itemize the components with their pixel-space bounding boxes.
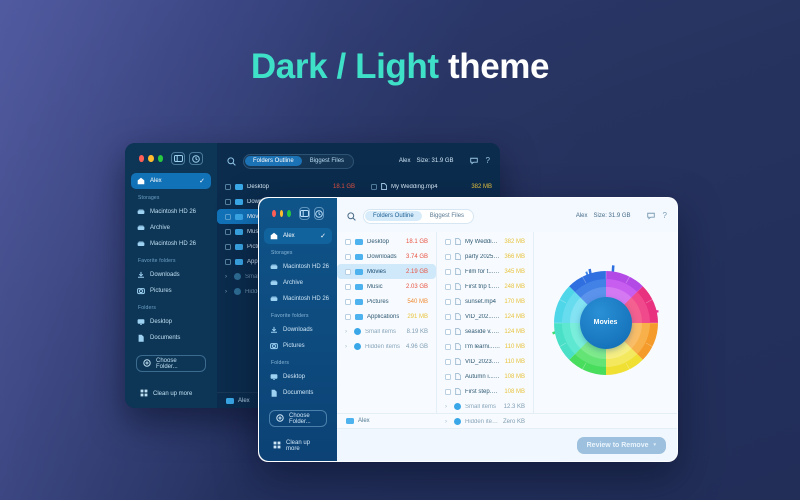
row-checkbox[interactable]: [345, 269, 351, 275]
sidebar-item-label: Archive: [150, 225, 170, 231]
row-name: Small items: [465, 404, 496, 410]
header-size: Size: 31.9 GB: [417, 158, 454, 164]
drive-icon: [137, 208, 145, 216]
sidebar-item-archive[interactable]: Archive: [264, 275, 332, 291]
folder-icon: [355, 314, 363, 320]
row-name: seaside v...023.mp4: [465, 329, 500, 335]
sidebar-item-account[interactable]: Alex ✓: [131, 173, 211, 189]
dark-toolbar-icons: ?: [470, 152, 490, 170]
table-row[interactable]: I'm learni...oard.mp4110 MB: [437, 339, 533, 354]
row-checkbox[interactable]: [445, 269, 451, 275]
file-icon: [455, 313, 461, 320]
file-icon: [455, 298, 461, 305]
light-files-column: My Wedding.mp4382 MB party 2025.mp4366 M…: [437, 232, 534, 413]
sidebar-item-label: Macintosh HD 26: [150, 209, 196, 215]
folder-icon: [355, 269, 363, 275]
row-checkbox[interactable]: [345, 239, 351, 245]
sidebar-item-label: Macintosh HD 26: [283, 264, 329, 270]
row-size: 18.1 GB: [333, 184, 355, 190]
table-row[interactable]: First step.mp4108 MB: [437, 384, 533, 399]
row-name: Music: [367, 284, 383, 290]
file-icon: [455, 373, 461, 380]
row-name: I'm learni...oard.mp4: [465, 344, 501, 350]
tab-folders-outline[interactable]: Folders Outline: [245, 156, 302, 166]
zoom-button[interactable]: [287, 210, 291, 217]
choose-folder-button[interactable]: Choose Folder...: [269, 410, 327, 427]
group-dot-icon: [234, 273, 241, 280]
row-checkbox[interactable]: [445, 329, 451, 335]
row-name: First step.mp4: [465, 389, 500, 395]
group-dot-icon: [354, 343, 361, 350]
row-checkbox[interactable]: [225, 244, 231, 250]
table-row[interactable]: VID_202...0958.mp4124 MB: [437, 309, 533, 324]
row-checkbox[interactable]: [225, 184, 231, 190]
row-name: Downloads: [367, 254, 397, 260]
row-size: 291 MB: [407, 314, 428, 320]
review-to-remove-button[interactable]: Review to Remove ▾: [577, 437, 666, 454]
chat-icon[interactable]: [470, 152, 478, 170]
sidebar-item-macintosh-hd-2[interactable]: Macintosh HD 26: [264, 291, 332, 307]
file-icon: [455, 283, 461, 290]
row-size: 124 MB: [504, 314, 525, 320]
row-checkbox[interactable]: [345, 254, 351, 260]
row-size: 382 MB: [504, 239, 525, 245]
sidebar-item-label: Desktop: [283, 374, 305, 380]
folder-icon: [235, 214, 243, 220]
file-icon: [381, 183, 387, 190]
sidebar-item-label: Macintosh HD 26: [150, 241, 196, 247]
question-icon[interactable]: ?: [486, 157, 490, 165]
desktop-icon: [270, 373, 278, 381]
document-icon: [137, 334, 145, 342]
choose-folder-button[interactable]: Choose Folder...: [136, 355, 206, 372]
sidebar-item-label: Documents: [150, 335, 180, 341]
sidebar-item-pictures[interactable]: Pictures: [131, 283, 211, 299]
sidebar-item-account[interactable]: Alex ✓: [264, 228, 332, 244]
sidebar-item-macintosh-hd-1[interactable]: Macintosh HD 26: [264, 259, 332, 275]
row-size: 3.74 GB: [406, 254, 428, 260]
clean-up-more-label: Clean up more: [153, 391, 192, 397]
table-row[interactable]: My Wedding.mp4382 MB: [363, 179, 500, 194]
table-row[interactable]: Downloads3.74 GB: [337, 249, 436, 264]
grid-icon: [273, 441, 281, 451]
table-row[interactable]: Film for t...flight.mp4345 MB: [437, 264, 533, 279]
file-icon: [455, 328, 461, 335]
sidebar-item-macintosh-hd-1[interactable]: Macintosh HD 26: [131, 204, 211, 220]
chevron-right-icon[interactable]: ›: [445, 404, 450, 410]
table-row[interactable]: seaside v...023.mp4124 MB: [437, 324, 533, 339]
question-icon[interactable]: ?: [663, 212, 667, 220]
light-sidebar: Alex ✓ Storages Macintosh HD 26 Archive …: [259, 198, 337, 461]
folder-icon: [355, 239, 363, 245]
sidebar-item-label: Pictures: [150, 288, 172, 294]
minimize-button[interactable]: [148, 155, 153, 162]
download-icon: [270, 326, 278, 334]
group-dot-icon: [234, 288, 241, 295]
chevron-down-icon: ▾: [653, 442, 656, 448]
sidebar-item-desktop[interactable]: Desktop: [264, 369, 332, 385]
drive-icon: [270, 263, 278, 271]
sidebar-item-label: Downloads: [150, 272, 180, 278]
plus-circle-icon: [276, 414, 284, 424]
row-name: VID_202...0958.mp4: [465, 314, 500, 320]
light-toolbar-icons: ?: [647, 207, 667, 225]
folder-icon: [346, 418, 354, 424]
row-size: 18.1 GB: [406, 239, 428, 245]
file-icon: [455, 358, 461, 365]
drive-icon: [137, 224, 145, 232]
row-size: 2.03 GB: [406, 284, 428, 290]
drive-icon: [137, 240, 145, 248]
table-row[interactable]: party 2025.mp4366 MB: [437, 249, 533, 264]
sidebar-item-label: Downloads: [283, 327, 313, 333]
plus-circle-icon: [143, 359, 151, 369]
row-checkbox[interactable]: [345, 314, 351, 320]
row-size: 345 MB: [504, 269, 525, 275]
page-title-plain: theme: [439, 47, 549, 86]
light-toolbar: Folders Outline Biggest Files Alex Size:…: [337, 198, 677, 232]
clean-up-more-button[interactable]: Clean up more: [269, 440, 327, 452]
light-view-tabs[interactable]: Folders Outline Biggest Files: [363, 209, 474, 224]
sidebar-item-label: Macintosh HD 26: [283, 296, 329, 302]
row-size: 248 MB: [504, 284, 525, 290]
dark-view-tabs[interactable]: Folders Outline Biggest Files: [243, 154, 354, 169]
row-checkbox[interactable]: [371, 184, 377, 190]
chevron-right-icon[interactable]: ›: [225, 289, 230, 295]
sidebar-item-downloads[interactable]: Downloads: [131, 267, 211, 283]
sunburst-center-label: Movies: [594, 319, 618, 326]
zoom-button[interactable]: [158, 155, 163, 162]
history-clock-icon[interactable]: [314, 207, 324, 220]
tab-biggest-files[interactable]: Biggest Files: [302, 156, 352, 166]
header-user: Alex: [576, 213, 588, 219]
search-icon[interactable]: [347, 212, 356, 221]
table-row[interactable]: ›Hidden items4.96 GB: [337, 339, 436, 354]
light-columns: Desktop18.1 GB Downloads3.74 GB Movies2.…: [337, 232, 677, 413]
table-row[interactable]: Autumn i...e city.mp4108 MB: [437, 369, 533, 384]
choose-folder-label: Choose Folder...: [156, 358, 199, 370]
sidebar-item-label: Desktop: [150, 319, 172, 325]
row-name: VID_2023...2137.mp4: [465, 359, 501, 365]
sunburst-chart[interactable]: Movies: [547, 264, 665, 382]
sidebar-section-header-folders: Folders: [131, 299, 211, 314]
search-icon[interactable]: [227, 157, 236, 166]
row-checkbox[interactable]: [445, 344, 451, 350]
row-name: First trip t...rest.mp4: [465, 284, 500, 290]
table-row[interactable]: Applications291 MB: [337, 309, 436, 324]
drive-icon: [270, 279, 278, 287]
file-icon: [455, 343, 461, 350]
sidebar-section-header-storages: Storages: [264, 244, 332, 259]
row-name: party 2025.mp4: [465, 254, 500, 260]
row-size: 382 MB: [471, 184, 492, 190]
row-name: sunset.mp4: [465, 299, 496, 305]
review-to-remove-label: Review to Remove: [587, 442, 649, 449]
photo-icon: [270, 342, 278, 350]
clean-up-more-label: Clean up more: [286, 440, 323, 452]
tab-biggest-files[interactable]: Biggest Files: [422, 211, 472, 221]
sidebar-item-pictures[interactable]: Pictures: [264, 338, 332, 354]
chevron-right-icon[interactable]: ›: [345, 344, 350, 350]
table-row[interactable]: Desktop18.1 GB: [337, 234, 436, 249]
minimize-button[interactable]: [280, 210, 284, 217]
document-icon: [270, 389, 278, 397]
row-checkbox[interactable]: [445, 389, 451, 395]
row-size: 12.3 KB: [504, 404, 525, 410]
sidebar-item-desktop[interactable]: Desktop: [131, 314, 211, 330]
sidebar-item-macintosh-hd-2[interactable]: Macintosh HD 26: [131, 236, 211, 252]
row-name: Autumn i...e city.mp4: [465, 374, 500, 380]
light-folders-column: Desktop18.1 GB Downloads3.74 GB Movies2.…: [337, 232, 437, 413]
chat-icon[interactable]: [647, 207, 655, 225]
download-icon: [137, 271, 145, 279]
row-checkbox[interactable]: [445, 299, 451, 305]
table-row[interactable]: VID_2023...2137.mp4110 MB: [437, 354, 533, 369]
sunburst-chart-panel[interactable]: Movies: [534, 232, 677, 413]
light-footer: Review to Remove ▾: [337, 428, 677, 461]
page-title-accent: Dark / Light: [251, 47, 439, 86]
row-size: 170 MB: [504, 299, 525, 305]
file-icon: [455, 268, 461, 275]
light-header-info: Alex Size: 31.9 GB: [576, 213, 631, 219]
row-checkbox[interactable]: [445, 314, 451, 320]
row-size: 124 MB: [504, 329, 525, 335]
light-content: Folders Outline Biggest Files Alex Size:…: [337, 198, 677, 461]
folder-icon: [226, 398, 234, 404]
row-size: 108 MB: [504, 374, 525, 380]
row-size: 8.19 KB: [407, 329, 428, 335]
group-dot-icon: [354, 328, 361, 335]
row-name: Desktop: [247, 184, 269, 190]
row-size: 110 MB: [505, 359, 525, 365]
group-dot-icon: [454, 403, 461, 410]
folder-icon: [355, 299, 363, 305]
folder-icon: [355, 254, 363, 260]
row-size: 110 MB: [505, 344, 525, 350]
dark-traffic-lights: [131, 143, 211, 173]
row-name: Movies: [367, 269, 386, 275]
close-button[interactable]: [272, 210, 276, 217]
sidebar-item-label: Archive: [283, 280, 303, 286]
table-row[interactable]: sunset.mp4170 MB: [437, 294, 533, 309]
table-row[interactable]: ›Small items12.3 KB: [437, 399, 533, 414]
sidebar-toggle-icon[interactable]: [171, 152, 185, 165]
sidebar-item-label: Pictures: [283, 343, 305, 349]
folder-icon: [235, 229, 243, 235]
folder-icon: [235, 259, 243, 265]
table-row[interactable]: My Wedding.mp4382 MB: [437, 234, 533, 249]
sidebar-item-downloads[interactable]: Downloads: [264, 322, 332, 338]
check-icon: ✓: [320, 232, 326, 240]
table-row[interactable]: ›Small items8.19 KB: [337, 324, 436, 339]
row-checkbox[interactable]: [225, 214, 231, 220]
clean-up-more-button[interactable]: Clean up more: [136, 389, 206, 399]
desktop-icon: [137, 318, 145, 326]
sidebar-item-label: Documents: [283, 390, 313, 396]
light-theme-window[interactable]: Alex ✓ Storages Macintosh HD 26 Archive …: [258, 197, 678, 462]
header-size: Size: 31.9 GB: [594, 213, 631, 219]
table-row[interactable]: Movies2.19 GB: [337, 264, 436, 279]
table-row[interactable]: Pictures540 MB: [337, 294, 436, 309]
home-icon: [137, 177, 145, 185]
header-user: Alex: [399, 158, 411, 164]
folder-icon: [235, 184, 243, 190]
sidebar-item-documents[interactable]: Documents: [131, 330, 211, 346]
drive-icon: [270, 295, 278, 303]
sidebar-section-header-storages: Storages: [131, 189, 211, 204]
table-row[interactable]: Desktop18.1 GB: [217, 179, 363, 194]
row-size: 4.96 GB: [406, 344, 428, 350]
folder-icon: [235, 244, 243, 250]
row-checkbox[interactable]: [225, 259, 231, 265]
sidebar-toggle-icon[interactable]: [299, 207, 310, 220]
sidebar-item-archive[interactable]: Archive: [131, 220, 211, 236]
row-name: Film for t...flight.mp4: [465, 269, 500, 275]
light-breadcrumb: Alex: [337, 413, 677, 428]
row-checkbox[interactable]: [345, 284, 351, 290]
file-icon: [455, 238, 461, 245]
row-name: Small items: [365, 329, 396, 335]
sunburst-center-label-wrap: Movies: [580, 297, 632, 349]
sidebar-account-label: Alex: [283, 233, 295, 239]
page-title: Dark / Light theme: [0, 47, 800, 87]
row-name: Hidden items: [365, 344, 400, 350]
home-icon: [270, 232, 278, 240]
folder-icon: [235, 199, 243, 205]
grid-icon: [140, 389, 148, 399]
row-checkbox[interactable]: [445, 254, 451, 260]
file-icon: [455, 388, 461, 395]
photo-icon: [137, 287, 145, 295]
folder-icon: [355, 284, 363, 290]
close-button[interactable]: [139, 155, 144, 162]
row-checkbox[interactable]: [445, 239, 451, 245]
row-name: Pictures: [367, 299, 389, 305]
breadcrumb-label: Alex: [358, 418, 370, 424]
sidebar-section-header-favorites: Favorite folders: [264, 307, 332, 322]
choose-folder-label: Choose Folder...: [289, 413, 320, 425]
row-name: Desktop: [367, 239, 389, 245]
row-size: 2.19 GB: [406, 269, 428, 275]
row-checkbox[interactable]: [345, 299, 351, 305]
row-size: 540 MB: [407, 299, 428, 305]
light-sidebar-bottom: Clean up more: [264, 440, 332, 461]
file-icon: [455, 253, 461, 260]
chevron-right-icon[interactable]: ›: [225, 274, 230, 280]
tab-folders-outline[interactable]: Folders Outline: [365, 211, 422, 221]
sidebar-account-label: Alex: [150, 178, 162, 184]
row-checkbox[interactable]: [445, 359, 451, 365]
row-checkbox[interactable]: [225, 229, 231, 235]
row-name: My Wedding.mp4: [391, 184, 438, 190]
row-size: 366 MB: [504, 254, 525, 260]
row-name: My Wedding.mp4: [465, 239, 500, 245]
light-traffic-lights: [264, 198, 332, 228]
dark-toolbar: Folders Outline Biggest Files Alex Size:…: [217, 143, 500, 177]
sidebar-section-header-favorites: Favorite folders: [131, 252, 211, 267]
chevron-right-icon[interactable]: ›: [345, 329, 350, 335]
dark-sidebar-bottom: Clean up more: [131, 389, 211, 408]
dark-header-info: Alex Size: 31.9 GB: [399, 158, 454, 164]
sidebar-section-header-folders: Folders: [264, 354, 332, 369]
breadcrumb-label: Alex: [238, 398, 250, 404]
row-size: 108 MB: [504, 389, 525, 395]
table-row[interactable]: First trip t...rest.mp4248 MB: [437, 279, 533, 294]
row-checkbox[interactable]: [225, 199, 231, 205]
row-name: Applications: [367, 314, 399, 320]
history-clock-icon[interactable]: [189, 152, 203, 165]
dark-sidebar: Alex ✓ Storages Macintosh HD 26 Archive …: [125, 143, 217, 408]
sidebar-item-documents[interactable]: Documents: [264, 385, 332, 401]
row-checkbox[interactable]: [445, 284, 451, 290]
row-checkbox[interactable]: [445, 374, 451, 380]
table-row[interactable]: Music2.03 GB: [337, 279, 436, 294]
check-icon: ✓: [199, 177, 205, 185]
